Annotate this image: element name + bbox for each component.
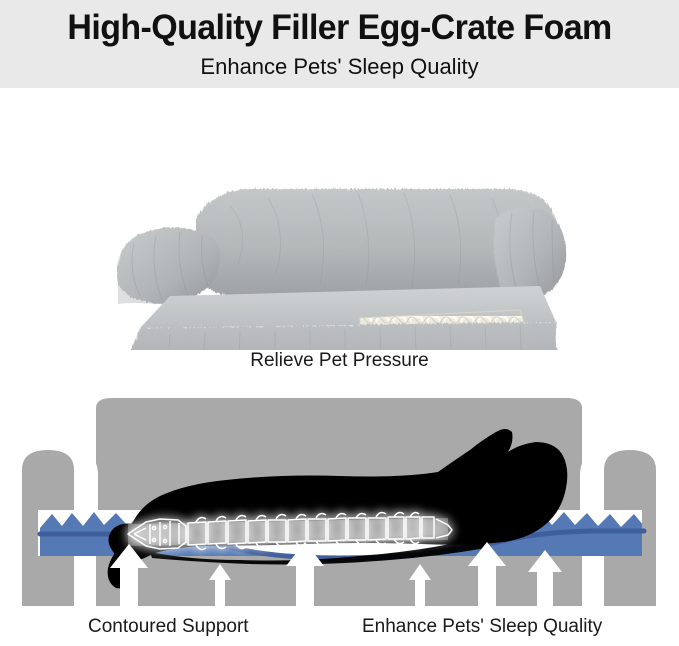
page-subtitle: Enhance Pets' Sleep Quality [200, 56, 478, 78]
sofa-photo-illustration [0, 88, 679, 350]
contoured-support-illustration [0, 392, 679, 608]
caption-contoured-support: Contoured Support [88, 616, 249, 638]
header-banner: High-Quality Filler Egg-Crate Foam Enhan… [0, 0, 679, 88]
support-diagram [0, 392, 679, 608]
page-title: High-Quality Filler Egg-Crate Foam [67, 10, 611, 45]
diagram-captions: Contoured Support Enhance Pets' Sleep Qu… [0, 616, 679, 646]
product-photo [0, 88, 679, 350]
caption-sleep-quality: Enhance Pets' Sleep Quality [362, 616, 602, 638]
photo-caption: Relieve Pet Pressure [0, 350, 679, 372]
